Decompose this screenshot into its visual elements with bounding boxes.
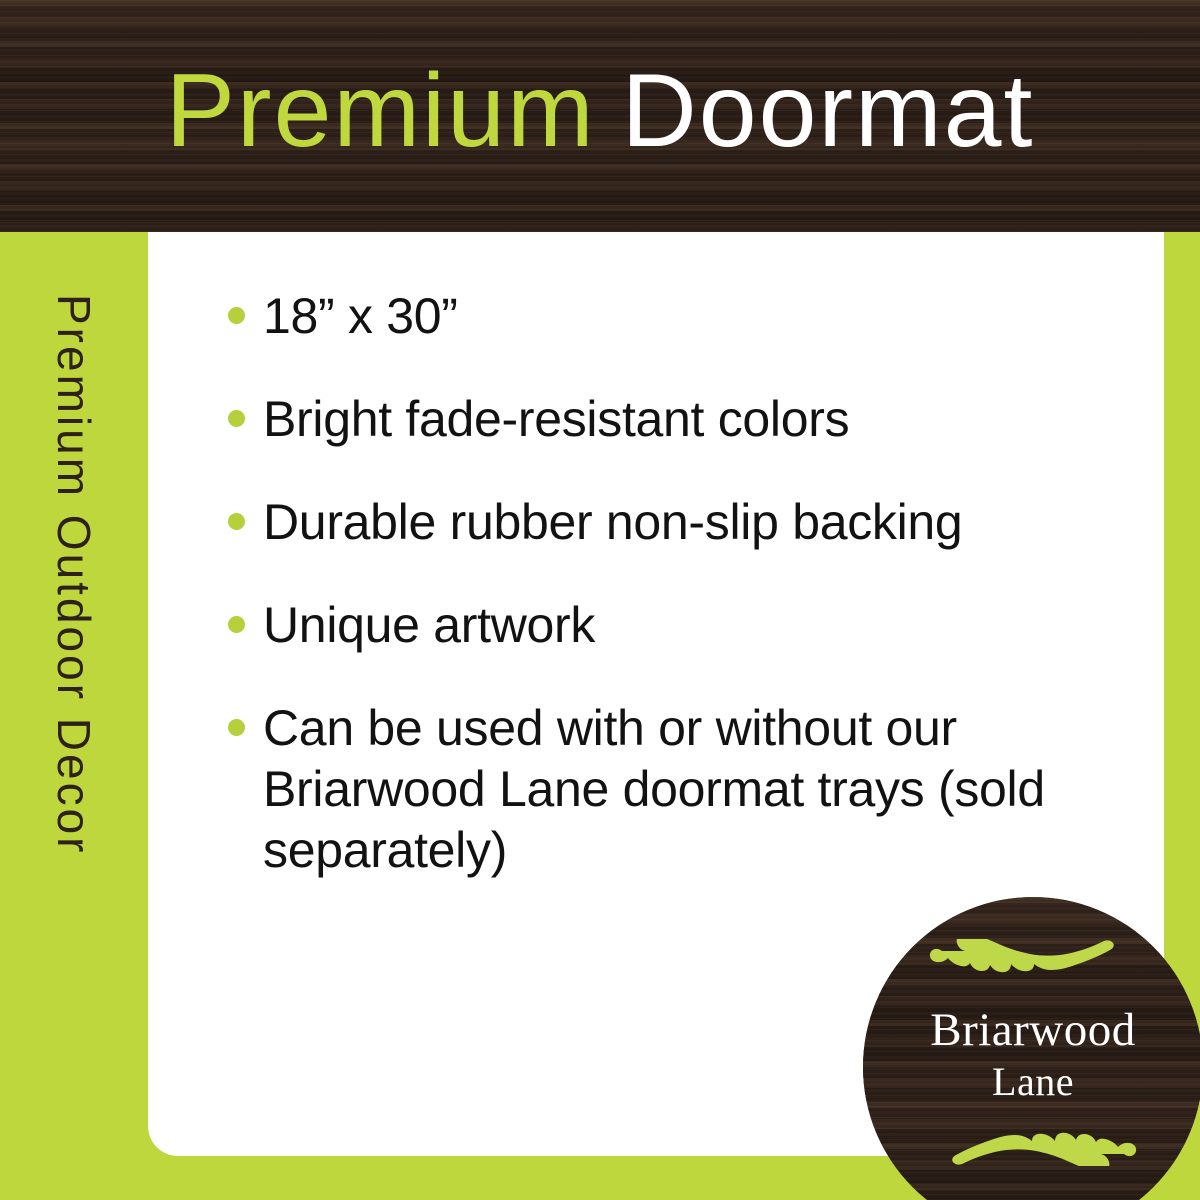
feature-list: 18” x 30” Bright fade-resistant colors D…	[228, 286, 1098, 881]
list-item-label: Durable rubber non-slip backing	[263, 492, 962, 553]
bullet-dot-icon	[228, 410, 245, 427]
brand-logo: Briarwood Lane	[863, 897, 1200, 1200]
list-item-label: Bright fade-resistant colors	[263, 389, 849, 450]
oak-leaf-icon	[928, 939, 1138, 995]
list-item-label: Unique artwork	[263, 595, 595, 656]
list-item: Unique artwork	[228, 595, 1098, 656]
list-item: 18” x 30”	[228, 286, 1098, 347]
page-title-white-word: Doormat	[622, 59, 1035, 163]
bullet-dot-icon	[228, 513, 245, 530]
oak-leaf-icon	[928, 1110, 1138, 1166]
list-item: Bright fade-resistant colors	[228, 389, 1098, 450]
list-item-label: 18” x 30”	[263, 286, 458, 347]
page-title: Premium Doormat	[0, 0, 1200, 232]
bullet-dot-icon	[228, 719, 245, 736]
brand-name: Briarwood	[930, 1007, 1136, 1054]
brand-sub-name: Lane	[992, 1062, 1074, 1102]
brand-logo-face: Briarwood Lane	[863, 897, 1200, 1200]
list-item: Durable rubber non-slip backing	[228, 492, 1098, 553]
list-item-label: Can be used with or without our Briarwoo…	[263, 698, 1083, 881]
bullet-dot-icon	[228, 616, 245, 633]
page-title-green-word: Premium	[166, 59, 596, 163]
bullet-dot-icon	[228, 307, 245, 324]
product-infographic: Premium Doormat Premium Outdoor Decor 18…	[0, 0, 1200, 1200]
list-item: Can be used with or without our Briarwoo…	[228, 698, 1098, 881]
header-bar: Premium Doormat	[0, 0, 1200, 232]
